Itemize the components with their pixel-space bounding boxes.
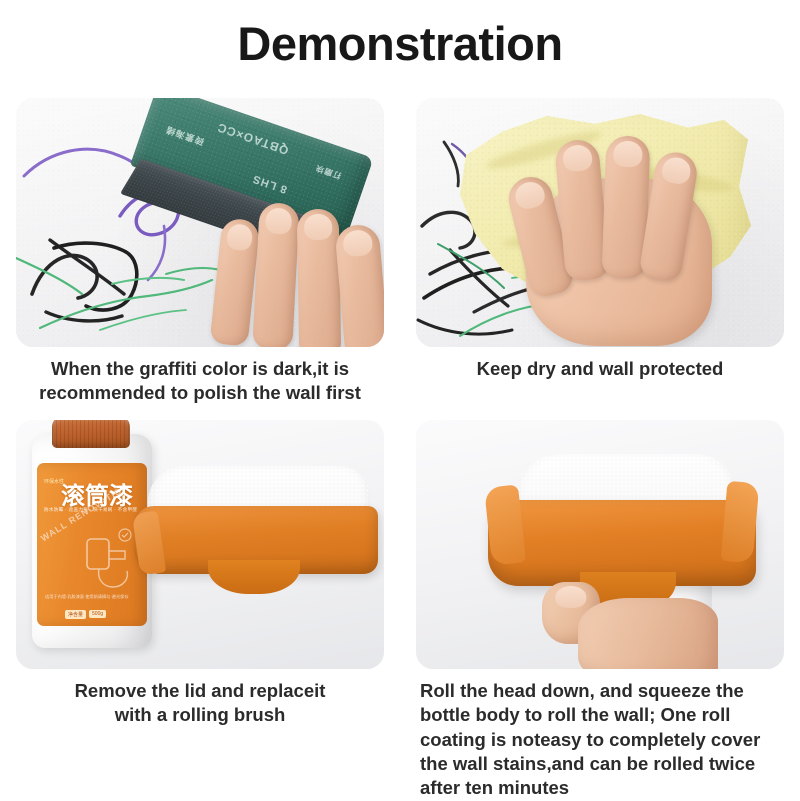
label-weight-badge: 净含量 500g: [65, 610, 106, 619]
demo-panel-replace-lid: 环保水性 滚筒漆 防水防霉 · 遮盖力强 · 快干易刷 · 不含甲醛 WALL …: [0, 420, 400, 801]
demo-panel-polish-wall: QBTAO×CC 砖素海绪 8 LHS 打磨块: [0, 98, 400, 406]
page-title: Demonstration: [0, 16, 800, 71]
fingernail: [342, 229, 373, 257]
roller-arm-right: [721, 481, 760, 563]
fingernail: [265, 207, 293, 234]
caption-line: Keep dry and wall protected: [418, 357, 782, 381]
caption-line: with a rolling brush: [18, 703, 382, 727]
hand-wiping: [512, 122, 742, 346]
label-illustration: [81, 525, 141, 597]
hand-squeezing-bottle: [534, 558, 724, 669]
caption-line: coating is noteasy to completely cover: [420, 728, 782, 752]
fingernail: [226, 223, 254, 251]
bottle-label: 环保水性 滚筒漆 防水防霉 · 遮盖力强 · 快干易刷 · 不含甲醛 WALL …: [37, 463, 147, 626]
demo-row-2: 环保水性 滚筒漆 防水防霉 · 遮盖力强 · 快干易刷 · 不含甲醛 WALL …: [0, 420, 800, 801]
caption-line: When the graffiti color is dark,it is: [18, 357, 382, 381]
weight-label: 净含量: [65, 610, 86, 619]
fingernail: [513, 179, 547, 211]
roller-brush-head: [134, 466, 384, 626]
demonstration-page: Demonstration: [0, 0, 800, 800]
photo-keep-dry: [416, 98, 784, 347]
fingernail: [660, 156, 691, 186]
caption-line: the wall stains,and can be rolled twice: [420, 752, 782, 776]
fingernail: [555, 586, 586, 608]
demo-panel-keep-dry: Keep dry and wall protected: [400, 98, 800, 406]
fingernail: [304, 214, 332, 240]
caption-replace-lid: Remove the lid and replaceit with a roll…: [16, 679, 384, 728]
caption-line: after ten minutes: [420, 776, 782, 800]
demo-row-1: QBTAO×CC 砖素海绪 8 LHS 打磨块: [0, 98, 800, 406]
caption-line: Remove the lid and replaceit: [18, 679, 382, 703]
label-fine-print: 适用于内墙·乳胶漆面 使用前请摘匀·避光保存: [45, 594, 129, 600]
caption-line: Roll the head down, and squeeze the: [420, 679, 782, 703]
caption-keep-dry: Keep dry and wall protected: [416, 357, 784, 381]
photo-roll-wall: [416, 420, 784, 669]
photo-replace-lid: 环保水性 滚筒漆 防水防霉 · 遮盖力强 · 快干易刷 · 不含甲醛 WALL …: [16, 420, 384, 669]
caption-polish-wall: When the graffiti color is dark,it is re…: [16, 357, 384, 406]
palm: [578, 598, 718, 669]
bottle-cap: [52, 420, 130, 448]
fingernail: [562, 144, 593, 172]
caption-line: recommended to polish the wall first: [18, 381, 382, 405]
weight-value: 500g: [89, 610, 106, 618]
demo-grid: QBTAO×CC 砖素海绪 8 LHS 打磨块: [0, 98, 800, 801]
hand-holding-block: [212, 181, 384, 347]
demo-panel-roll-wall: Roll the head down, and squeeze the bott…: [400, 420, 800, 801]
caption-roll-wall: Roll the head down, and squeeze the bott…: [416, 679, 784, 801]
roller-arm-left: [132, 510, 166, 575]
photo-polish-wall: QBTAO×CC 砖素海绪 8 LHS 打磨块: [16, 98, 384, 347]
roller-stem: [208, 560, 300, 594]
caption-line: bottle body to roll the wall; One roll: [420, 703, 782, 727]
fingernail: [613, 141, 643, 168]
